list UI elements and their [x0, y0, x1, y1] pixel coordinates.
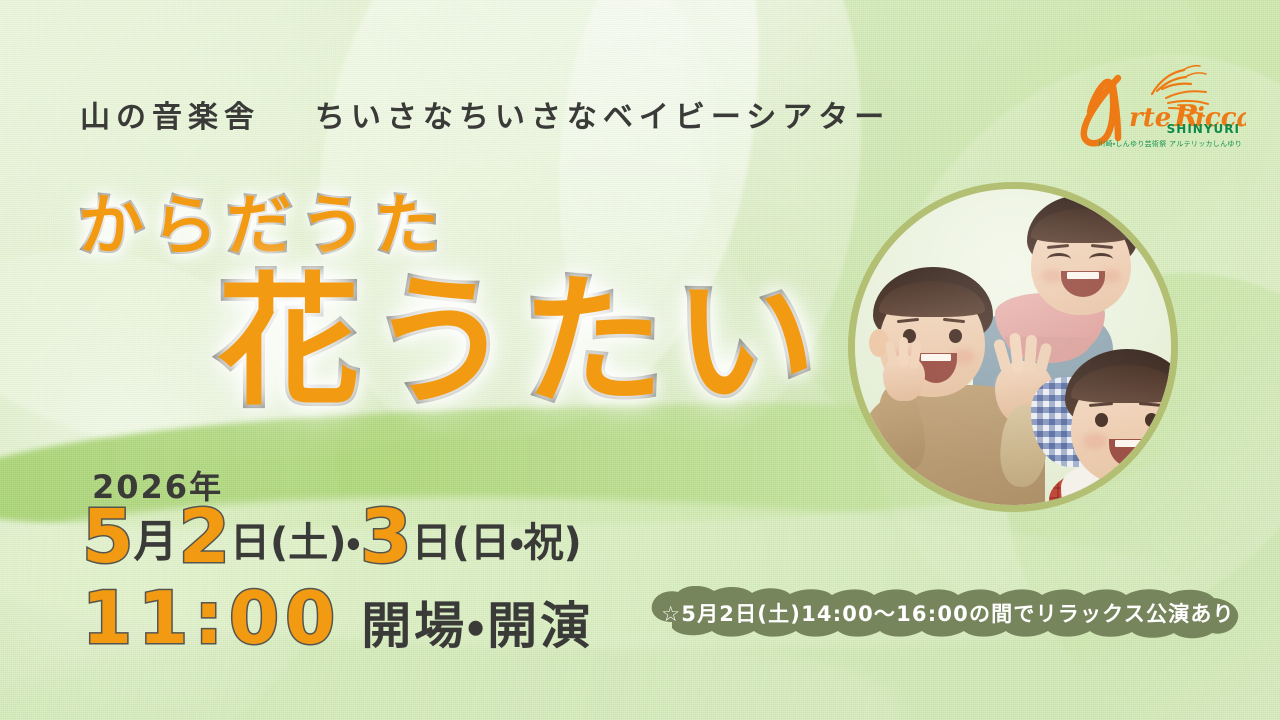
header-organizer: 山の音楽舎	[80, 100, 260, 135]
event-day1-weekday: (土)	[270, 520, 347, 566]
event-time-label: 開場・開演	[361, 597, 593, 655]
baby-photo-circle	[848, 182, 1178, 512]
event-day2-weekday: (日・祝)	[452, 520, 582, 566]
event-time-line: 11:00開場・開演	[82, 582, 593, 654]
svg-text:rte: rte	[1129, 103, 1171, 133]
event-month-label: 月	[134, 516, 179, 567]
event-month-number: 5	[82, 494, 134, 580]
event-day1-number: 2	[179, 494, 231, 580]
logo-region-jp: 川崎・しんゆり芸術祭 アルテリッカしんゆり	[1098, 139, 1242, 149]
header-title: 山の音楽舎 ちいさなちいさなベイビーシアター	[80, 92, 890, 136]
logo-region-en: SHINYURI	[1167, 122, 1240, 136]
event-date-line: 5月2日(土)・3日(日・祝)	[82, 500, 582, 574]
relax-performance-banner: ☆5月2日(土)14:00〜16:00の間でリラックス公演あり	[648, 586, 1248, 640]
event-day2-label: 日	[412, 520, 452, 566]
subtitle-karadauta: からだうた	[78, 172, 448, 268]
main-title-hanautai: 花うたい	[218, 272, 826, 414]
arteRicca-logo[interactable]: rte R icca SHINYURI 川崎・しんゆり芸術祭 アルテリッカしんゆ…	[1056, 58, 1246, 156]
baby-photo-image	[855, 189, 1171, 505]
poster-root: 山の音楽舎 ちいさなちいさなベイビーシアター	[0, 0, 1280, 720]
event-date-separator: ・	[347, 520, 361, 566]
relax-performance-text: ☆5月2日(土)14:00〜16:00の間でリラックス公演あり	[648, 586, 1248, 640]
header-series: ちいさなちいさなベイビーシアター	[315, 100, 890, 135]
event-day1-label: 日	[230, 520, 270, 566]
event-day2-number: 3	[360, 494, 412, 580]
event-time: 11:00	[82, 576, 341, 660]
